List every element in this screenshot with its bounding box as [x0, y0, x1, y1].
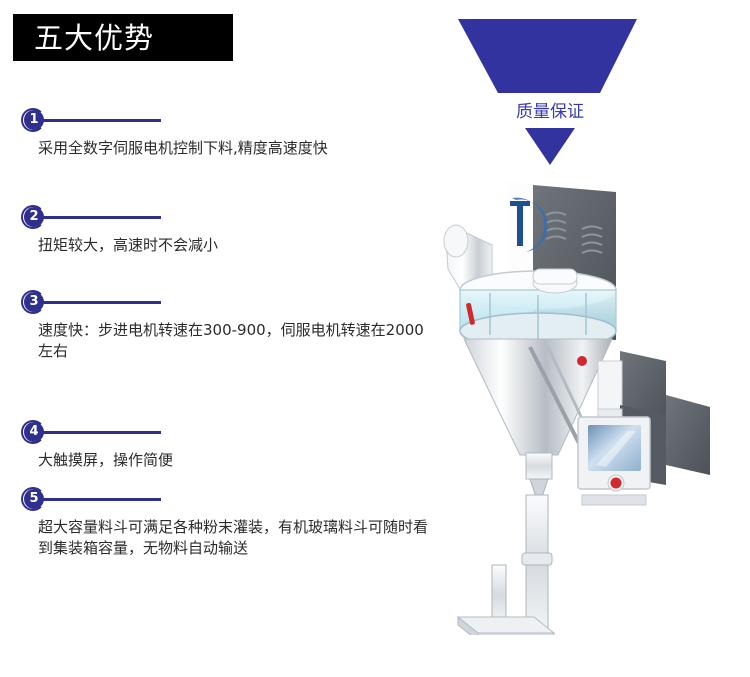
feature-rule-1: [42, 119, 161, 122]
feature-rule-2: [42, 216, 161, 219]
badge-number-1: 1: [24, 110, 44, 130]
feature-head-4: 4: [0, 420, 430, 446]
filling-machine-illustration: [430, 165, 750, 635]
feature-item-1: 1 采用全数字伺服电机控制下料,精度高速度快: [0, 108, 430, 134]
touchscreen-control-box: [578, 351, 710, 505]
feature-item-3: 3 速度快：步进电机转速在300-900，伺服电机转速在2000左右: [0, 290, 430, 316]
feature-head-1: 1: [0, 108, 430, 134]
badge-number-3: 3: [24, 292, 44, 312]
feature-rule-4: [42, 431, 161, 434]
feature-text-2: 扭矩较大，高速时不会减小: [38, 235, 430, 256]
feature-head-2: 2: [0, 205, 430, 231]
feature-text-3: 速度快：步进电机转速在300-900，伺服电机转速在2000左右: [38, 320, 430, 362]
emergency-stop-button[interactable]: [611, 478, 622, 489]
feature-head-5: 5: [0, 487, 430, 513]
badge-number-5: 5: [24, 489, 44, 509]
feature-list: 1 采用全数字伺服电机控制下料,精度高速度快 2 扭矩较大，高速时不会减小 3: [0, 0, 440, 677]
quality-funnel-graphic: 质量保证: [450, 10, 650, 175]
quality-label: 质量保证: [450, 101, 650, 123]
feature-rule-3: [42, 301, 161, 304]
acrylic-hopper: [460, 269, 616, 350]
product-photo: [430, 165, 750, 635]
funnel-icon: [450, 10, 650, 175]
feature-rule-5: [42, 498, 161, 501]
badge-number-4: 4: [24, 422, 44, 442]
feature-head-3: 3: [0, 290, 430, 316]
feature-item-5: 5 超大容量料斗可满足各种粉末灌装，有机玻璃料斗可随时看到集装箱容量，无物料自动…: [0, 487, 430, 513]
feature-text-5: 超大容量料斗可满足各种粉末灌装，有机玻璃料斗可随时看到集装箱容量，无物料自动输送: [38, 517, 430, 559]
funnel-top-trapezoid: [458, 19, 637, 93]
feature-text-4: 大触摸屏，操作简便: [38, 450, 430, 471]
funnel-bottom-triangle: [525, 128, 575, 165]
feature-item-2: 2 扭矩较大，高速时不会减小: [0, 205, 430, 231]
feature-text-1: 采用全数字伺服电机控制下料,精度高速度快: [38, 138, 430, 159]
badge-number-2: 2: [24, 207, 44, 227]
machine-frame: [458, 495, 554, 635]
promo-page: 五大优势 1 采用全数字伺服电机控制下料,精度高速度快 2 扭矩较大，高速: [0, 0, 750, 677]
feature-item-4: 4 大触摸屏，操作简便: [0, 420, 430, 446]
